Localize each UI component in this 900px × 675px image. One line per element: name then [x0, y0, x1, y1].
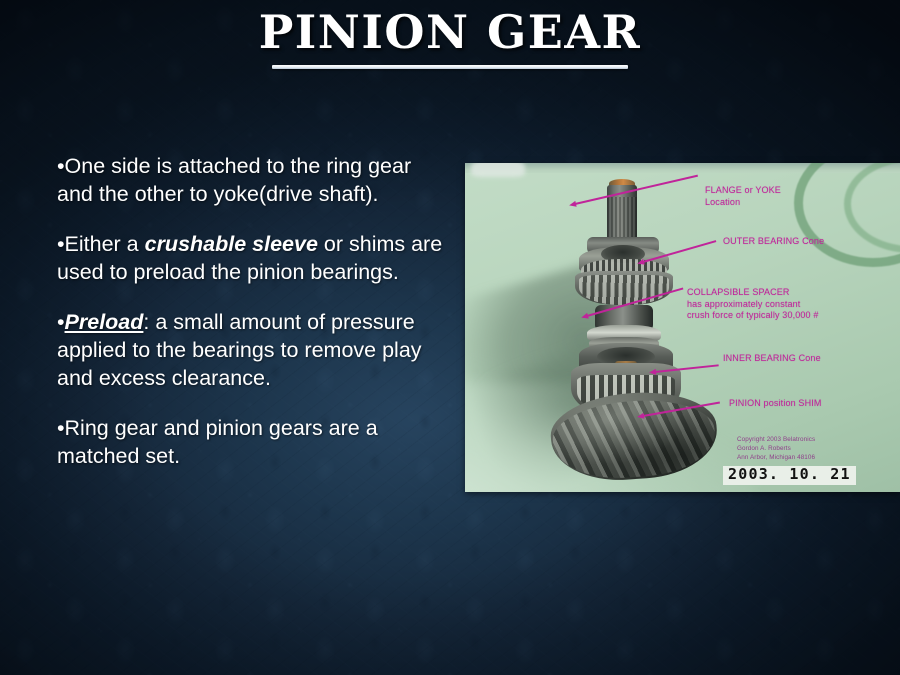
photo-datestamp: 2003. 10. 21	[723, 466, 856, 485]
bullet-marker: •	[57, 232, 65, 256]
bullet-text-1: One side is attached to the ring gear an…	[57, 154, 411, 206]
bullet-text-2-emphasis: crushable sleeve	[145, 232, 318, 256]
bullet-text-3-term: Preload	[65, 310, 144, 334]
annotation-flange-yoke: FLANGE or YOKE Location	[705, 185, 781, 208]
annotation-outer-bearing-cone: OUTER BEARING Cone	[723, 236, 824, 248]
photo-copyright-notice: Copyright 2003 Belatronics Gordon A. Rob…	[737, 435, 815, 462]
list-item: •Ring gear and pinion gears are a matche…	[57, 414, 452, 471]
title-underline	[272, 65, 628, 69]
list-item: •Either a crushable sleeve or shims are …	[57, 230, 452, 287]
shaft-splines	[607, 197, 637, 241]
list-item: •One side is attached to the ring gear a…	[57, 152, 452, 209]
bullet-marker: •	[57, 154, 65, 178]
bullet-marker: •	[57, 310, 65, 334]
annotation-pinion-position-shim: PINION position SHIM	[729, 398, 822, 410]
list-item: •Preload: a small amount of pressure app…	[57, 308, 452, 393]
slide-title-block: PINION GEAR	[0, 8, 900, 69]
bullet-text-2-pre: Either a	[65, 232, 145, 256]
annotation-inner-bearing-cone: INNER BEARING Cone	[723, 353, 821, 365]
bullet-marker: •	[57, 416, 65, 440]
bullet-text-4: Ring gear and pinion gears are a matched…	[57, 416, 378, 468]
page-title: PINION GEAR	[259, 8, 642, 56]
slide-canvas: PINION GEAR •One side is attached to the…	[0, 0, 900, 675]
pinion-gear-photo: FLANGE or YOKE Location OUTER BEARING Co…	[465, 163, 900, 492]
annotation-collapsible-spacer: COLLAPSIBLE SPACER has approximately con…	[687, 287, 819, 322]
pinion-gear-shading	[548, 387, 720, 484]
bullet-list: •One side is attached to the ring gear a…	[57, 152, 452, 470]
gear-assembly-illustration	[557, 179, 717, 479]
photo-background-object	[471, 163, 525, 177]
